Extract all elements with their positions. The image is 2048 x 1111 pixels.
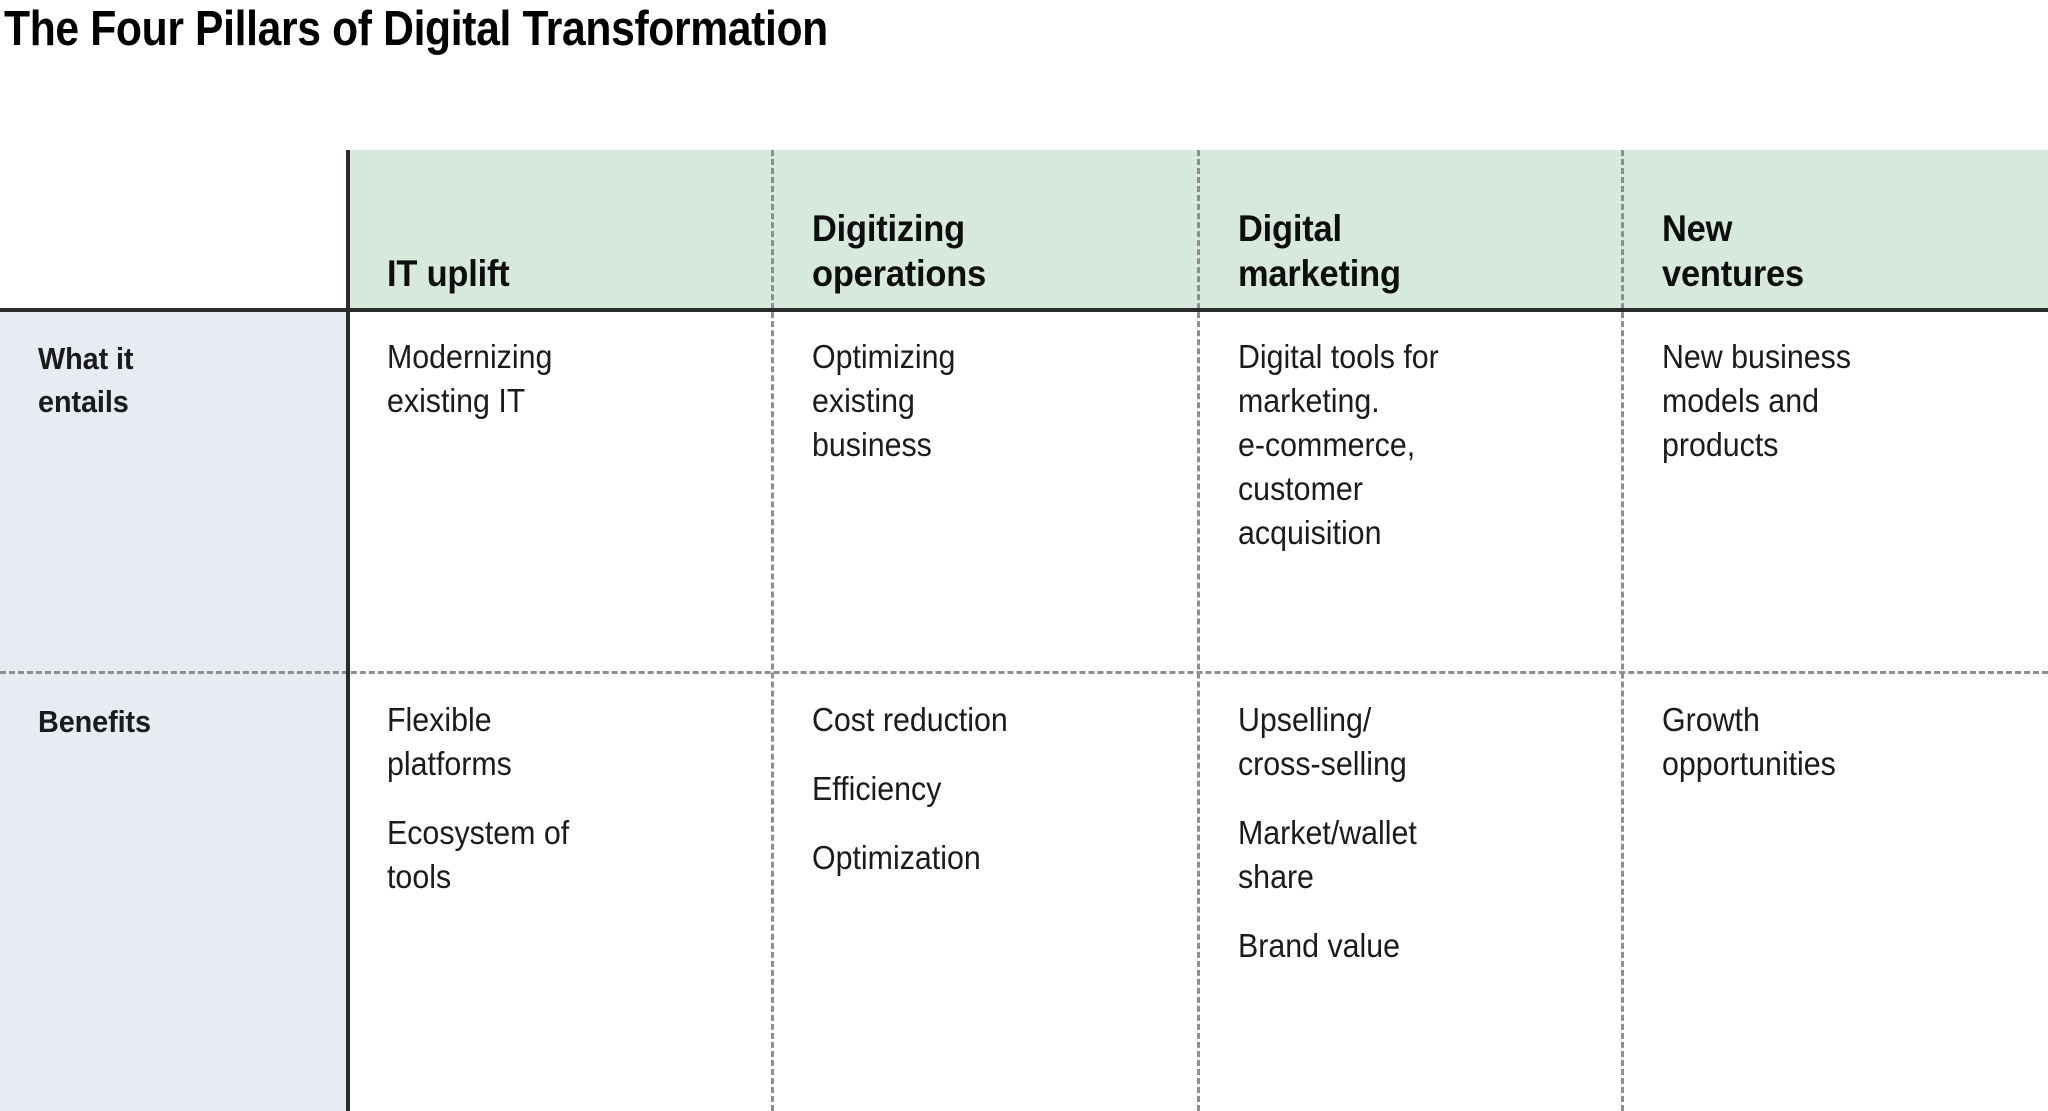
cell-text: New business models and products [1662, 335, 1997, 467]
cell-benefits-new-ventures: Growth opportunities [1622, 673, 2048, 1111]
cell-text: Brand value [1238, 924, 1571, 968]
column-divider-2-dashed [1197, 150, 1200, 1111]
column-header-label: Digital marketing [1238, 206, 1595, 296]
cell-text: Optimization [812, 836, 1147, 880]
cell-entails-digital-marketing: Digital tools for marketing. e-commerce,… [1198, 310, 1622, 673]
cell-text: Growth opportunities [1662, 698, 1997, 786]
cell-text: Market/wallet share [1238, 811, 1571, 899]
cell-benefits-it-uplift: Flexible platforms Ecosystem of tools [347, 673, 772, 1111]
cell-text: Upselling/ cross-selling [1238, 698, 1571, 786]
pillars-table: IT uplift Digitizing operations Digital … [0, 150, 2048, 1111]
table-row-benefits: Benefits Flexible platforms Ecosystem of… [0, 673, 2048, 1111]
cell-benefits-digitizing-operations: Cost reduction Efficiency Optimization [772, 673, 1198, 1111]
header-bottom-rule [0, 308, 2048, 312]
cell-entails-it-uplift: Modernizing existing IT [347, 310, 772, 673]
page-title: The Four Pillars of Digital Transformati… [4, 0, 1657, 62]
cell-entails-new-ventures: New business models and products [1622, 310, 2048, 673]
column-header-label: New ventures [1662, 206, 2021, 296]
row-header-label: What it entails [38, 337, 298, 423]
cell-text: Optimizing existing business [812, 335, 1147, 467]
column-header-label: IT uplift [387, 251, 745, 296]
cell-text: Efficiency [812, 767, 1147, 811]
cell-entails-digitizing-operations: Optimizing existing business [772, 310, 1198, 673]
cell-text: Modernizing existing IT [387, 335, 721, 423]
cell-text: Flexible platforms [387, 698, 721, 786]
table-row-what-it-entails: What it entails Modernizing existing IT … [0, 310, 2048, 673]
column-header-it-uplift: IT uplift [347, 150, 772, 310]
row-header-benefits: Benefits [0, 673, 347, 1111]
row-header-what-it-entails: What it entails [0, 310, 347, 673]
column-header-new-ventures: New ventures [1622, 150, 2048, 310]
column-divider-1-dashed [771, 150, 774, 1111]
column-header-label: Digitizing operations [812, 206, 1171, 296]
column-header-digitizing-operations: Digitizing operations [772, 150, 1198, 310]
row-header-label: Benefits [38, 700, 298, 743]
cell-text: Digital tools for marketing. e-commerce,… [1238, 335, 1571, 555]
column-divider-3-dashed [1621, 150, 1624, 1111]
cell-benefits-digital-marketing: Upselling/ cross-selling Market/wallet s… [1198, 673, 1622, 1111]
column-header-digital-marketing: Digital marketing [1198, 150, 1622, 310]
table-body: What it entails Modernizing existing IT … [0, 310, 2048, 1111]
cell-text: Cost reduction [812, 698, 1147, 742]
row-divider-dashed [0, 671, 2048, 674]
label-column-rule [346, 150, 350, 1111]
infographic-table-page: The Four Pillars of Digital Transformati… [0, 0, 2048, 1111]
cell-text: Ecosystem of tools [387, 811, 721, 899]
